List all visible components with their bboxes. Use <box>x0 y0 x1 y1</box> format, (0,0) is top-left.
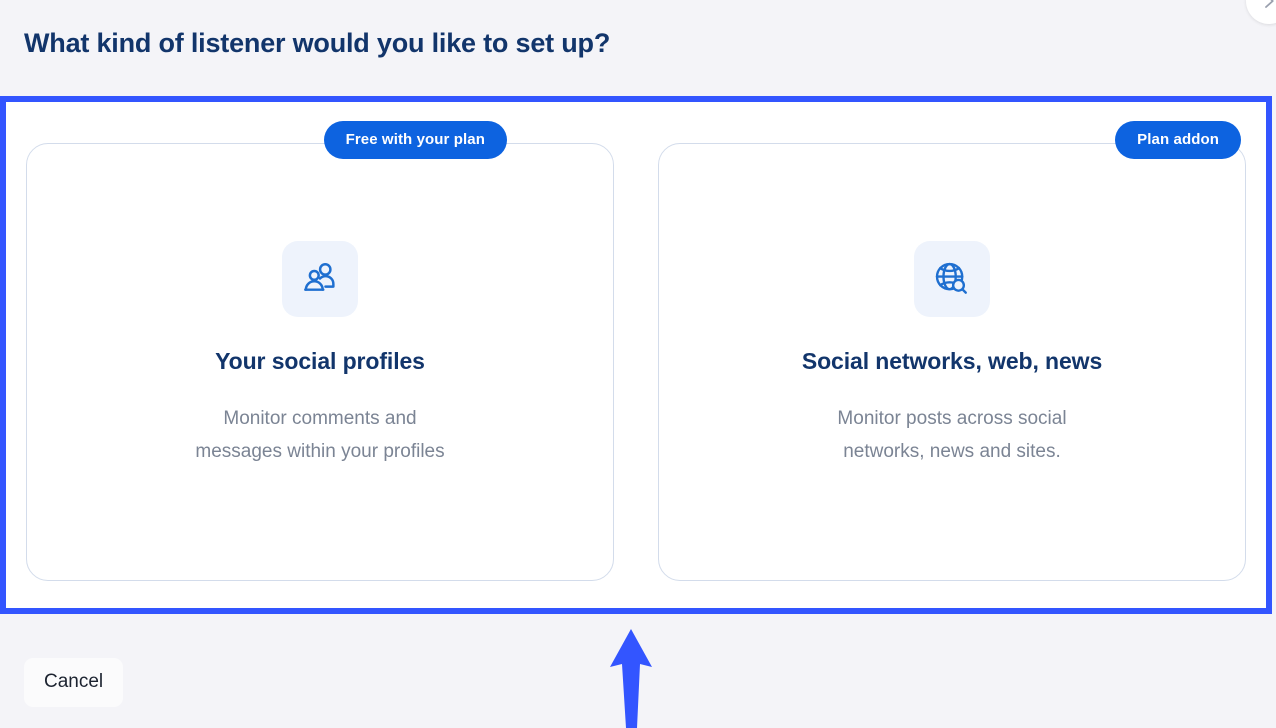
listener-type-cards: Free with your plan Your social profiles… <box>6 102 1266 608</box>
card-title: Your social profiles <box>215 348 425 376</box>
listener-type-options-region: Free with your plan Your social profiles… <box>0 96 1272 614</box>
card-title: Social networks, web, news <box>802 348 1102 376</box>
listener-card-social-profiles[interactable]: Free with your plan Your social profiles… <box>26 143 614 581</box>
dialog-header: What kind of listener would you like to … <box>0 0 1276 87</box>
card-description: Monitor comments and messages within you… <box>195 402 444 469</box>
dialog-footer: Cancel <box>0 637 1276 728</box>
badge-free-with-plan: Free with your plan <box>324 121 507 159</box>
page-title: What kind of listener would you like to … <box>24 27 610 59</box>
listener-card-social-networks-web-news[interactable]: Plan addon Social networks, web, news Mo… <box>658 143 1246 581</box>
globe-search-icon <box>914 241 990 317</box>
badge-plan-addon: Plan addon <box>1115 121 1241 159</box>
listener-setup-dialog: What kind of listener would you like to … <box>0 0 1276 728</box>
people-icon <box>282 241 358 317</box>
card-description: Monitor posts across social networks, ne… <box>837 402 1066 469</box>
cancel-button[interactable]: Cancel <box>24 658 123 707</box>
